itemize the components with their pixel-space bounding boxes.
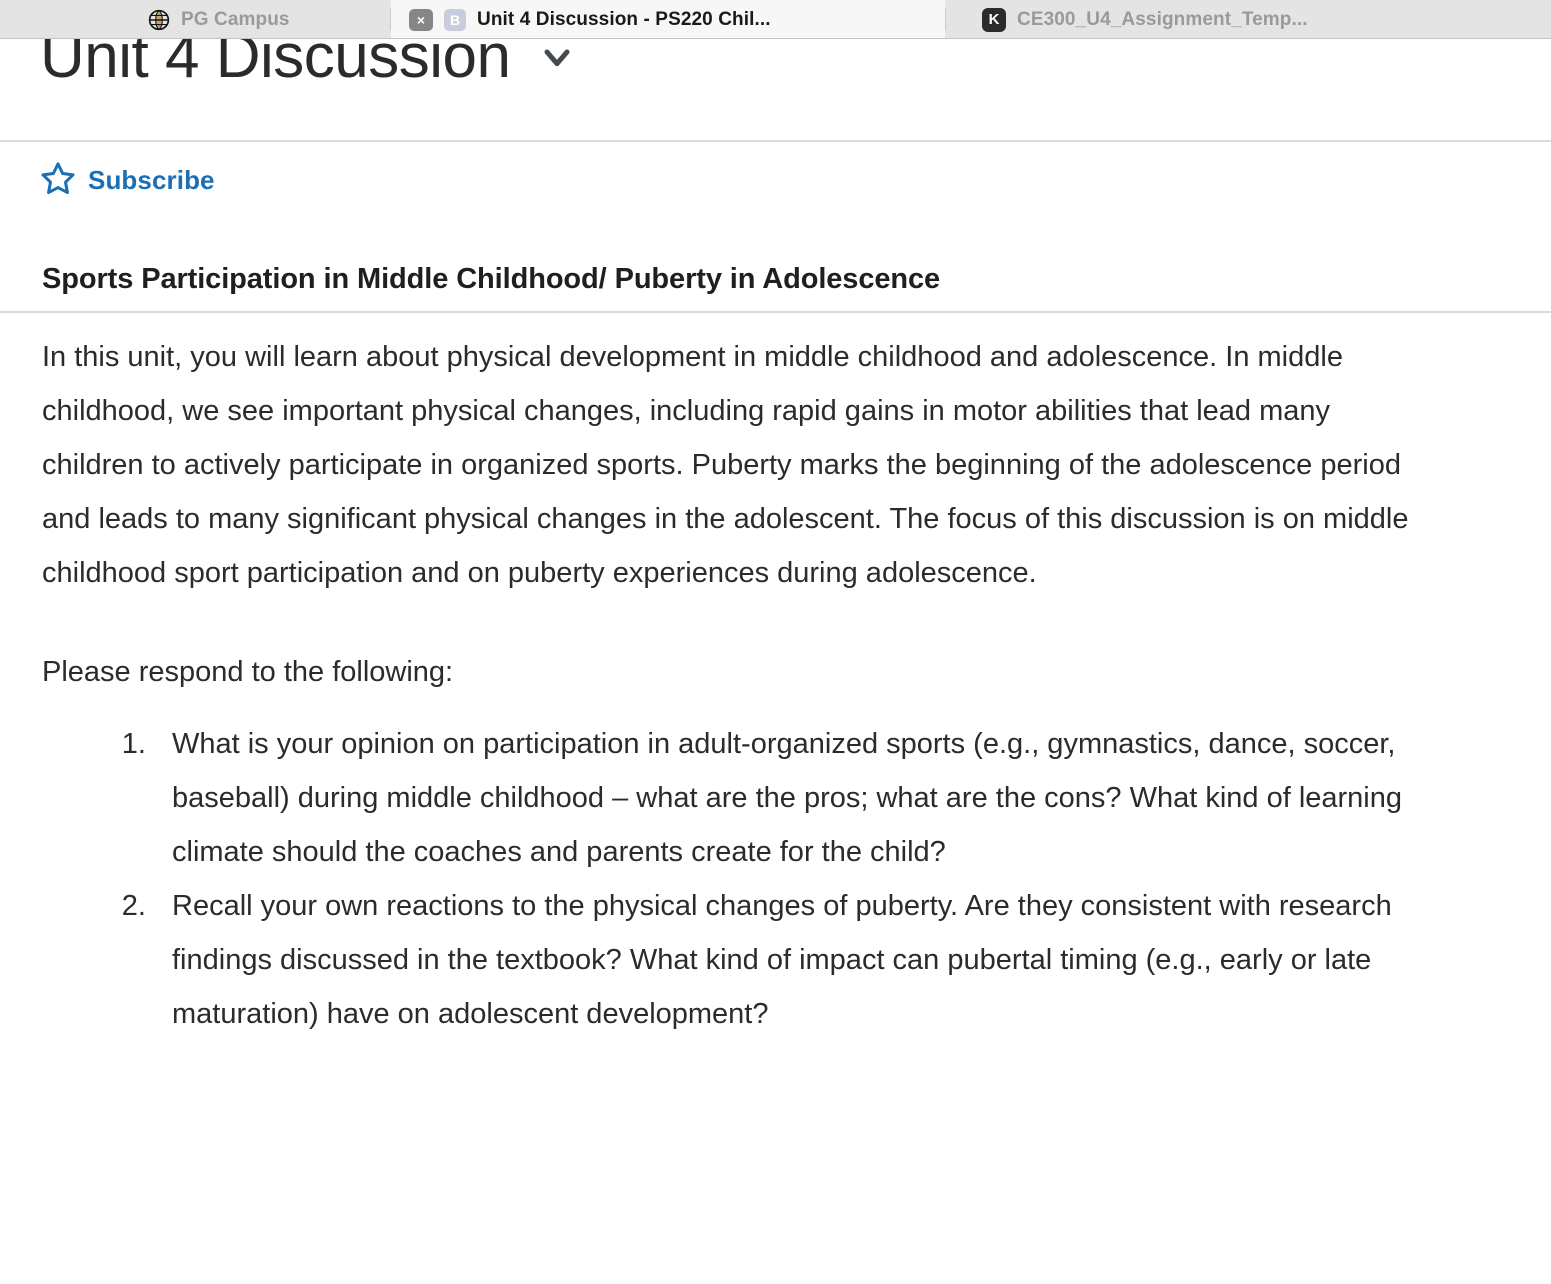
browser-tab-label: Unit 4 Discussion - PS220 Chil...: [477, 9, 771, 31]
discussion-body: In this unit, you will learn about physi…: [42, 330, 1462, 1041]
browser-tab-unit-4-discussion[interactable]: × B Unit 4 Discussion - PS220 Chil...: [391, 0, 945, 39]
browser-tab-label: PG Campus: [181, 9, 290, 31]
subscribe-button[interactable]: Subscribe: [40, 160, 215, 201]
brightspace-b-icon: B: [444, 9, 466, 31]
star-outline-icon: [40, 160, 76, 201]
list-item: Recall your own reactions to the physica…: [154, 879, 1472, 1041]
discussion-heading: Sports Participation in Middle Childhood…: [42, 263, 940, 296]
list-item: What is your opinion on participation in…: [154, 717, 1472, 879]
globe-icon: [148, 9, 170, 31]
intro-paragraph: In this unit, you will learn about physi…: [42, 330, 1427, 600]
browser-tab-ce300-assignment[interactable]: K CE300_U4_Assignment_Temp...: [946, 0, 1426, 39]
subscribe-label: Subscribe: [88, 165, 215, 196]
question-list: What is your opinion on participation in…: [42, 717, 1462, 1041]
prompt-line: Please respond to the following:: [42, 600, 1462, 699]
browser-tab-label: CE300_U4_Assignment_Temp...: [1017, 9, 1308, 31]
close-icon[interactable]: ×: [409, 9, 433, 31]
browser-tab-strip: PG Campus × B Unit 4 Discussion - PS220 …: [0, 0, 1551, 39]
browser-tab-pg-campus[interactable]: PG Campus: [0, 0, 390, 39]
kaltura-k-icon: K: [982, 8, 1006, 32]
chevron-down-icon[interactable]: [536, 36, 578, 78]
discussion-page: Unit 4 Discussion Subscribe Sports Parti…: [0, 0, 1551, 1284]
